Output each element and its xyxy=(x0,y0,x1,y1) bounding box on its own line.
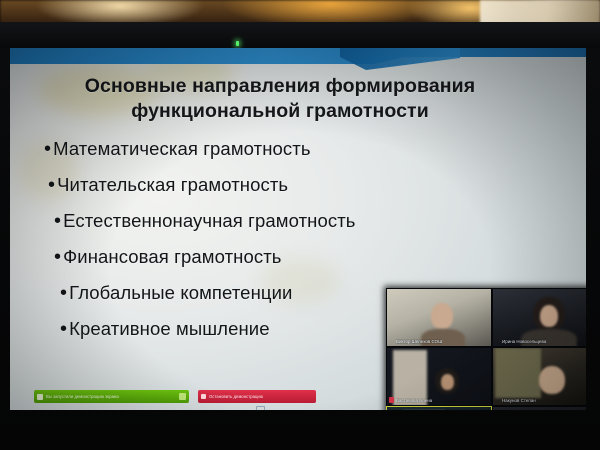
stop-share-label: Остановить демонстрацию xyxy=(209,394,263,399)
slide-title: Основные направления формирования функци… xyxy=(60,74,500,124)
participant-name: Бастанова Алена xyxy=(396,398,432,403)
participant-tile[interactable]: Ирина Новосельцева xyxy=(492,288,586,347)
list-item: • Естественнонаучная грамотность xyxy=(44,208,474,234)
participant-name-badge: Бастанова Алена xyxy=(389,396,432,404)
bullet-marker-icon: • xyxy=(54,244,61,270)
video-grid-row: Бастанова Алена Накунов Степан xyxy=(386,347,586,406)
sharing-status-label: Вы запустили демонстрацию экрана xyxy=(46,394,119,399)
participant-tile[interactable]: Бастанова Алена xyxy=(386,347,492,406)
sharing-status-button[interactable]: Вы запустили демонстрацию экрана xyxy=(34,390,189,403)
share-options-icon[interactable] xyxy=(179,393,186,400)
mic-icon xyxy=(495,338,500,344)
participant-tile[interactable] xyxy=(386,406,492,410)
list-item-label: Глобальные компетенции xyxy=(69,280,292,306)
participant-video-grid[interactable]: Виктор Шелехов СОШ Ирина Новосельцева xyxy=(386,288,586,410)
mic-muted-icon xyxy=(389,397,394,403)
list-item-label: Математическая грамотность xyxy=(53,136,310,162)
participant-name: Виктор Шелехов СОШ xyxy=(396,339,442,344)
participant-name: Ирина Новосельцева xyxy=(502,339,546,344)
slide-footer-icon xyxy=(256,406,265,410)
screen-share-icon xyxy=(37,394,43,400)
stop-icon xyxy=(201,394,206,399)
mic-icon xyxy=(389,338,394,344)
participant-name-badge: Ирина Новосельцева xyxy=(495,337,546,345)
list-item-label: Естественнонаучная грамотность xyxy=(63,208,355,234)
list-item-label: Читательская грамотность xyxy=(57,172,288,198)
video-grid-row: Виктор Шелехов СОШ Ирина Новосельцева xyxy=(386,288,586,347)
mic-icon xyxy=(495,397,500,403)
participant-tile[interactable]: Накунов Степан xyxy=(492,347,586,406)
list-item: • Математическая грамотность xyxy=(44,136,474,162)
list-item: • Финансовая грамотность xyxy=(44,244,474,270)
participant-tile[interactable]: Виктор Шелехов СОШ xyxy=(386,288,492,347)
zoom-share-toolbar[interactable]: Вы запустили демонстрацию экрана Останов… xyxy=(34,390,324,403)
bullet-marker-icon: • xyxy=(54,208,61,234)
photo-of-monitor: Основные направления формирования функци… xyxy=(0,0,600,450)
slide-title-line2: функциональной грамотности xyxy=(60,99,500,124)
slide-title-line1: Основные направления формирования xyxy=(60,74,500,99)
participant-tile[interactable] xyxy=(492,406,586,410)
list-item-label: Креативное мышление xyxy=(69,316,270,342)
bullet-marker-icon: • xyxy=(44,136,51,162)
bullet-marker-icon: • xyxy=(60,280,67,306)
participant-name-badge: Накунов Степан xyxy=(495,396,536,404)
slide-header-banner xyxy=(10,48,586,72)
power-led-icon xyxy=(236,41,239,46)
monitor-bezel-top xyxy=(0,22,600,48)
bullet-marker-icon: • xyxy=(48,172,55,198)
participant-name: Накунов Степан xyxy=(502,398,536,403)
list-item: • Читательская грамотность xyxy=(44,172,474,198)
list-item-label: Финансовая грамотность xyxy=(63,244,281,270)
video-grid-row xyxy=(386,406,586,410)
monitor-screen: Основные направления формирования функци… xyxy=(10,48,586,410)
bullet-marker-icon: • xyxy=(60,316,67,342)
participant-name-badge: Виктор Шелехов СОШ xyxy=(389,337,442,345)
stop-share-button[interactable]: Остановить демонстрацию xyxy=(198,390,316,403)
